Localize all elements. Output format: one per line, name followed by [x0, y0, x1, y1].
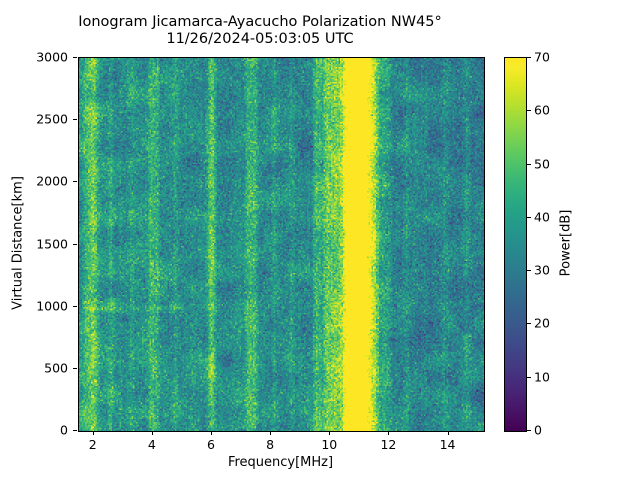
colorbar-tick-mark — [527, 164, 531, 165]
colorbar-gradient — [505, 58, 526, 431]
x-tick-label: 12 — [380, 437, 396, 452]
y-tick-mark — [73, 57, 77, 58]
y-tick-mark — [73, 368, 77, 369]
x-axis-label: Frequency[MHz] — [78, 455, 483, 470]
colorbar-tick-mark — [527, 217, 531, 218]
colorbar-tick-label: 30 — [534, 263, 550, 278]
x-tick-mark — [152, 431, 153, 435]
y-axis-label-text: Virtual Distance[km] — [11, 176, 26, 310]
x-tick-mark — [211, 431, 212, 435]
y-tick-mark — [73, 430, 77, 431]
x-tick-label: 8 — [266, 437, 274, 452]
x-tick-label: 4 — [148, 437, 156, 452]
x-tick-label: 6 — [207, 437, 215, 452]
y-tick-mark — [73, 244, 77, 245]
colorbar-tick-label: 0 — [534, 423, 542, 438]
y-tick-label: 2500 — [36, 112, 68, 127]
x-tick-mark — [329, 431, 330, 435]
colorbar-tick-mark — [527, 323, 531, 324]
colorbar-tick-mark — [527, 377, 531, 378]
colorbar-tick-label: 60 — [534, 103, 550, 118]
y-tick-label: 3000 — [36, 50, 68, 65]
y-tick-label: 1500 — [36, 236, 68, 251]
y-tick-mark — [73, 181, 77, 182]
x-tick-mark — [270, 431, 271, 435]
colorbar-tick-label: 40 — [534, 209, 550, 224]
y-tick-mark — [73, 119, 77, 120]
ionogram-heatmap — [79, 58, 484, 431]
colorbar-tick-label: 10 — [534, 369, 550, 384]
x-tick-label: 2 — [89, 437, 97, 452]
x-tick-mark — [93, 431, 94, 435]
x-tick-label: 10 — [321, 437, 337, 452]
colorbar-tick-mark — [527, 57, 531, 58]
x-tick-label: 14 — [440, 437, 456, 452]
colorbar-label-text: Power[dB] — [559, 210, 574, 277]
y-tick-label: 0 — [60, 423, 68, 438]
colorbar-tick-label: 70 — [534, 50, 550, 65]
colorbar-tick-mark — [527, 430, 531, 431]
x-tick-mark — [388, 431, 389, 435]
y-tick-label: 2000 — [36, 174, 68, 189]
ionogram-figure: Ionogram Jicamarca-Ayacucho Polarization… — [0, 0, 640, 480]
colorbar-tick-label: 20 — [534, 316, 550, 331]
figure-title: Ionogram Jicamarca-Ayacucho Polarization… — [0, 14, 520, 48]
plot-axes — [78, 57, 485, 432]
colorbar-tick-label: 50 — [534, 156, 550, 171]
colorbar — [504, 57, 527, 432]
y-tick-mark — [73, 306, 77, 307]
x-tick-mark — [448, 431, 449, 435]
colorbar-tick-mark — [527, 270, 531, 271]
y-tick-label: 1000 — [36, 298, 68, 313]
y-tick-label: 500 — [44, 360, 68, 375]
colorbar-tick-mark — [527, 110, 531, 111]
